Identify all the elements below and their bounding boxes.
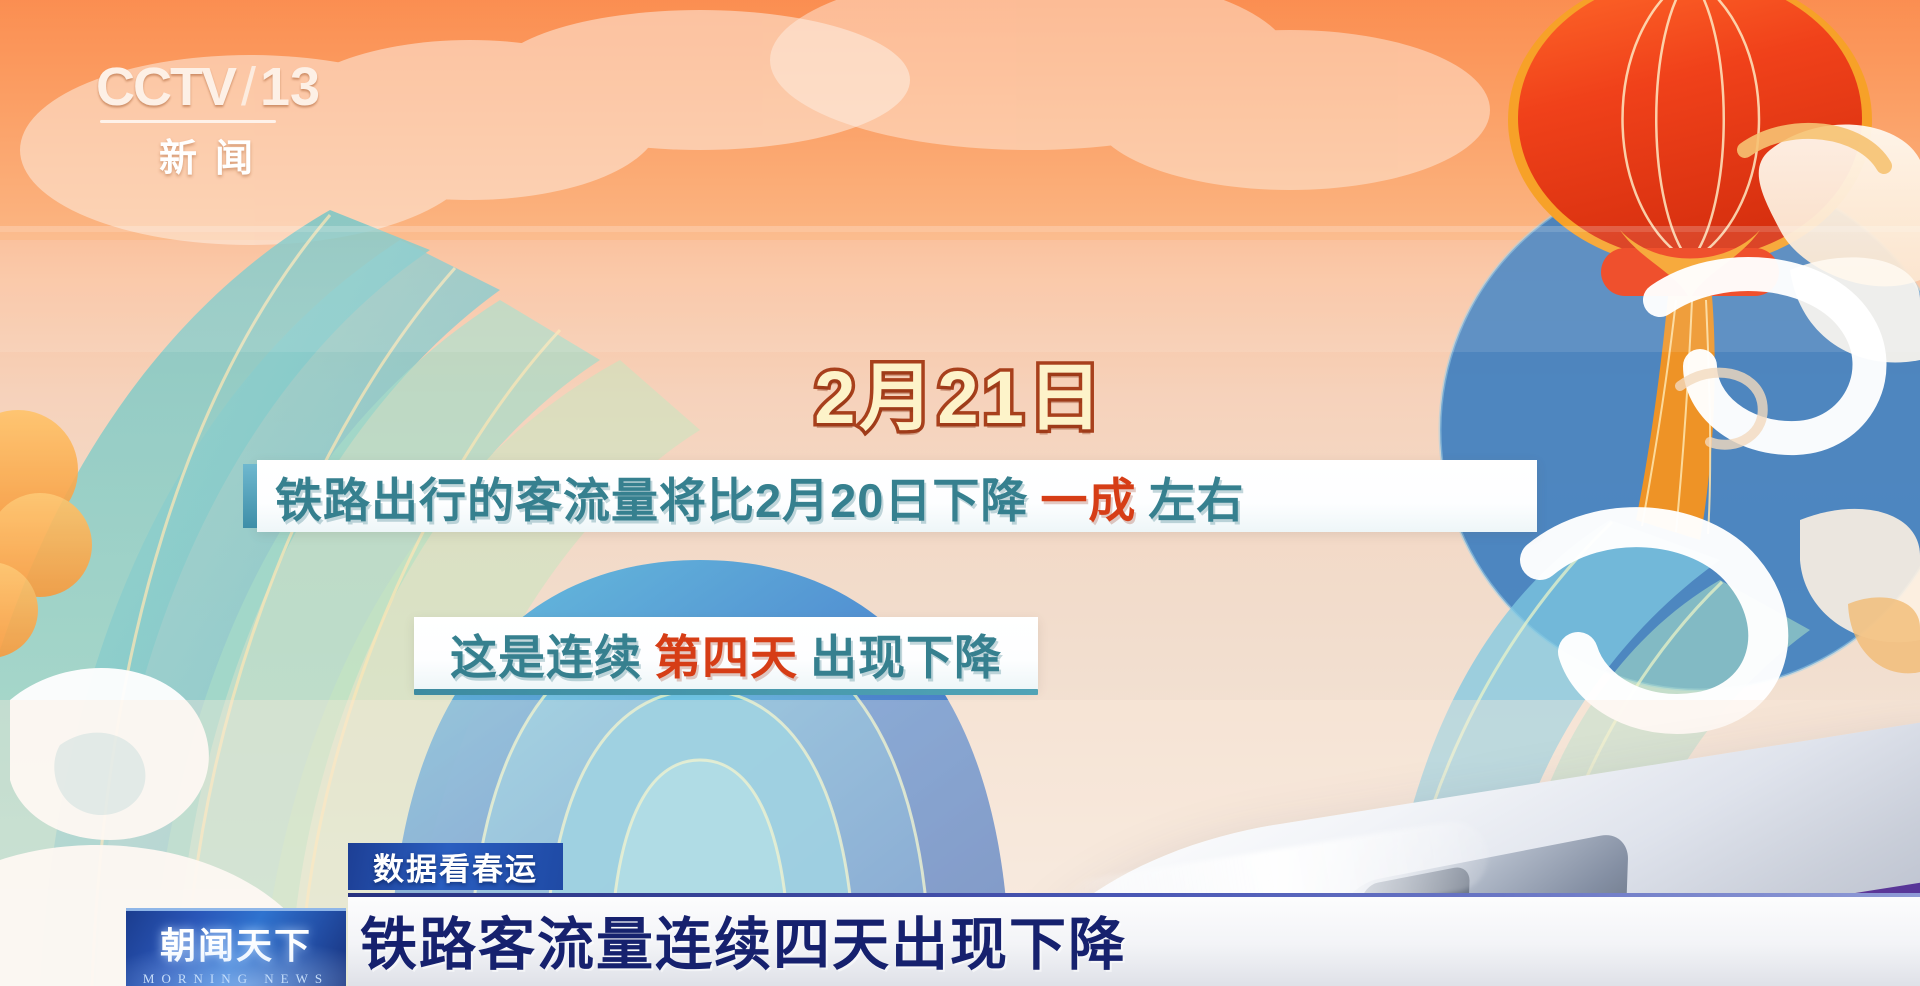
channel-logo-underline bbox=[100, 120, 276, 123]
stat-line1-part-a: 铁路出行的客流量将比2月20日下降 bbox=[275, 462, 1028, 531]
stat-line2-highlight: 第四天 bbox=[654, 619, 798, 688]
stat-banner-secondary-underline bbox=[414, 689, 1038, 695]
stat-banner-secondary: 这是连续 第四天 出现下降 bbox=[414, 617, 1038, 689]
headline-bar-top-edge bbox=[348, 893, 1920, 897]
stat-line2-part-b: 出现下降 bbox=[810, 619, 1002, 688]
topic-tag-label: 数据看春运 bbox=[373, 844, 538, 889]
channel-number: 13 bbox=[260, 56, 320, 118]
program-logo: 朝闻天下 MORNING NEWS bbox=[126, 908, 346, 986]
stat-line1-highlight: 一成 bbox=[1040, 462, 1136, 531]
stat-line1-part-b: 左右 bbox=[1148, 462, 1244, 531]
stat-line2-part-a: 这是连续 bbox=[450, 619, 642, 688]
date-headline: 2月21日 bbox=[0, 338, 1920, 445]
broadcast-screen: CCTV / 13 新闻 2月21日 铁路出行的客流量将比2月20日下降 一成 … bbox=[0, 0, 1920, 986]
channel-logo-row: CCTV / 13 bbox=[96, 56, 326, 118]
channel-name: CCTV bbox=[96, 56, 235, 118]
topic-tag: 数据看春运 bbox=[348, 843, 563, 890]
stat-banner-left-accent bbox=[243, 464, 257, 528]
channel-separator: / bbox=[241, 56, 256, 118]
channel-logo: CCTV / 13 新闻 bbox=[96, 56, 326, 174]
stat-banner-primary: 铁路出行的客流量将比2月20日下降 一成 左右 bbox=[257, 460, 1537, 532]
channel-sub-label: 新闻 bbox=[104, 127, 326, 182]
headline-text: 铁路客流量连续四天出现下降 bbox=[360, 899, 1127, 981]
headline-bar: 铁路客流量连续四天出现下降 bbox=[348, 893, 1920, 986]
